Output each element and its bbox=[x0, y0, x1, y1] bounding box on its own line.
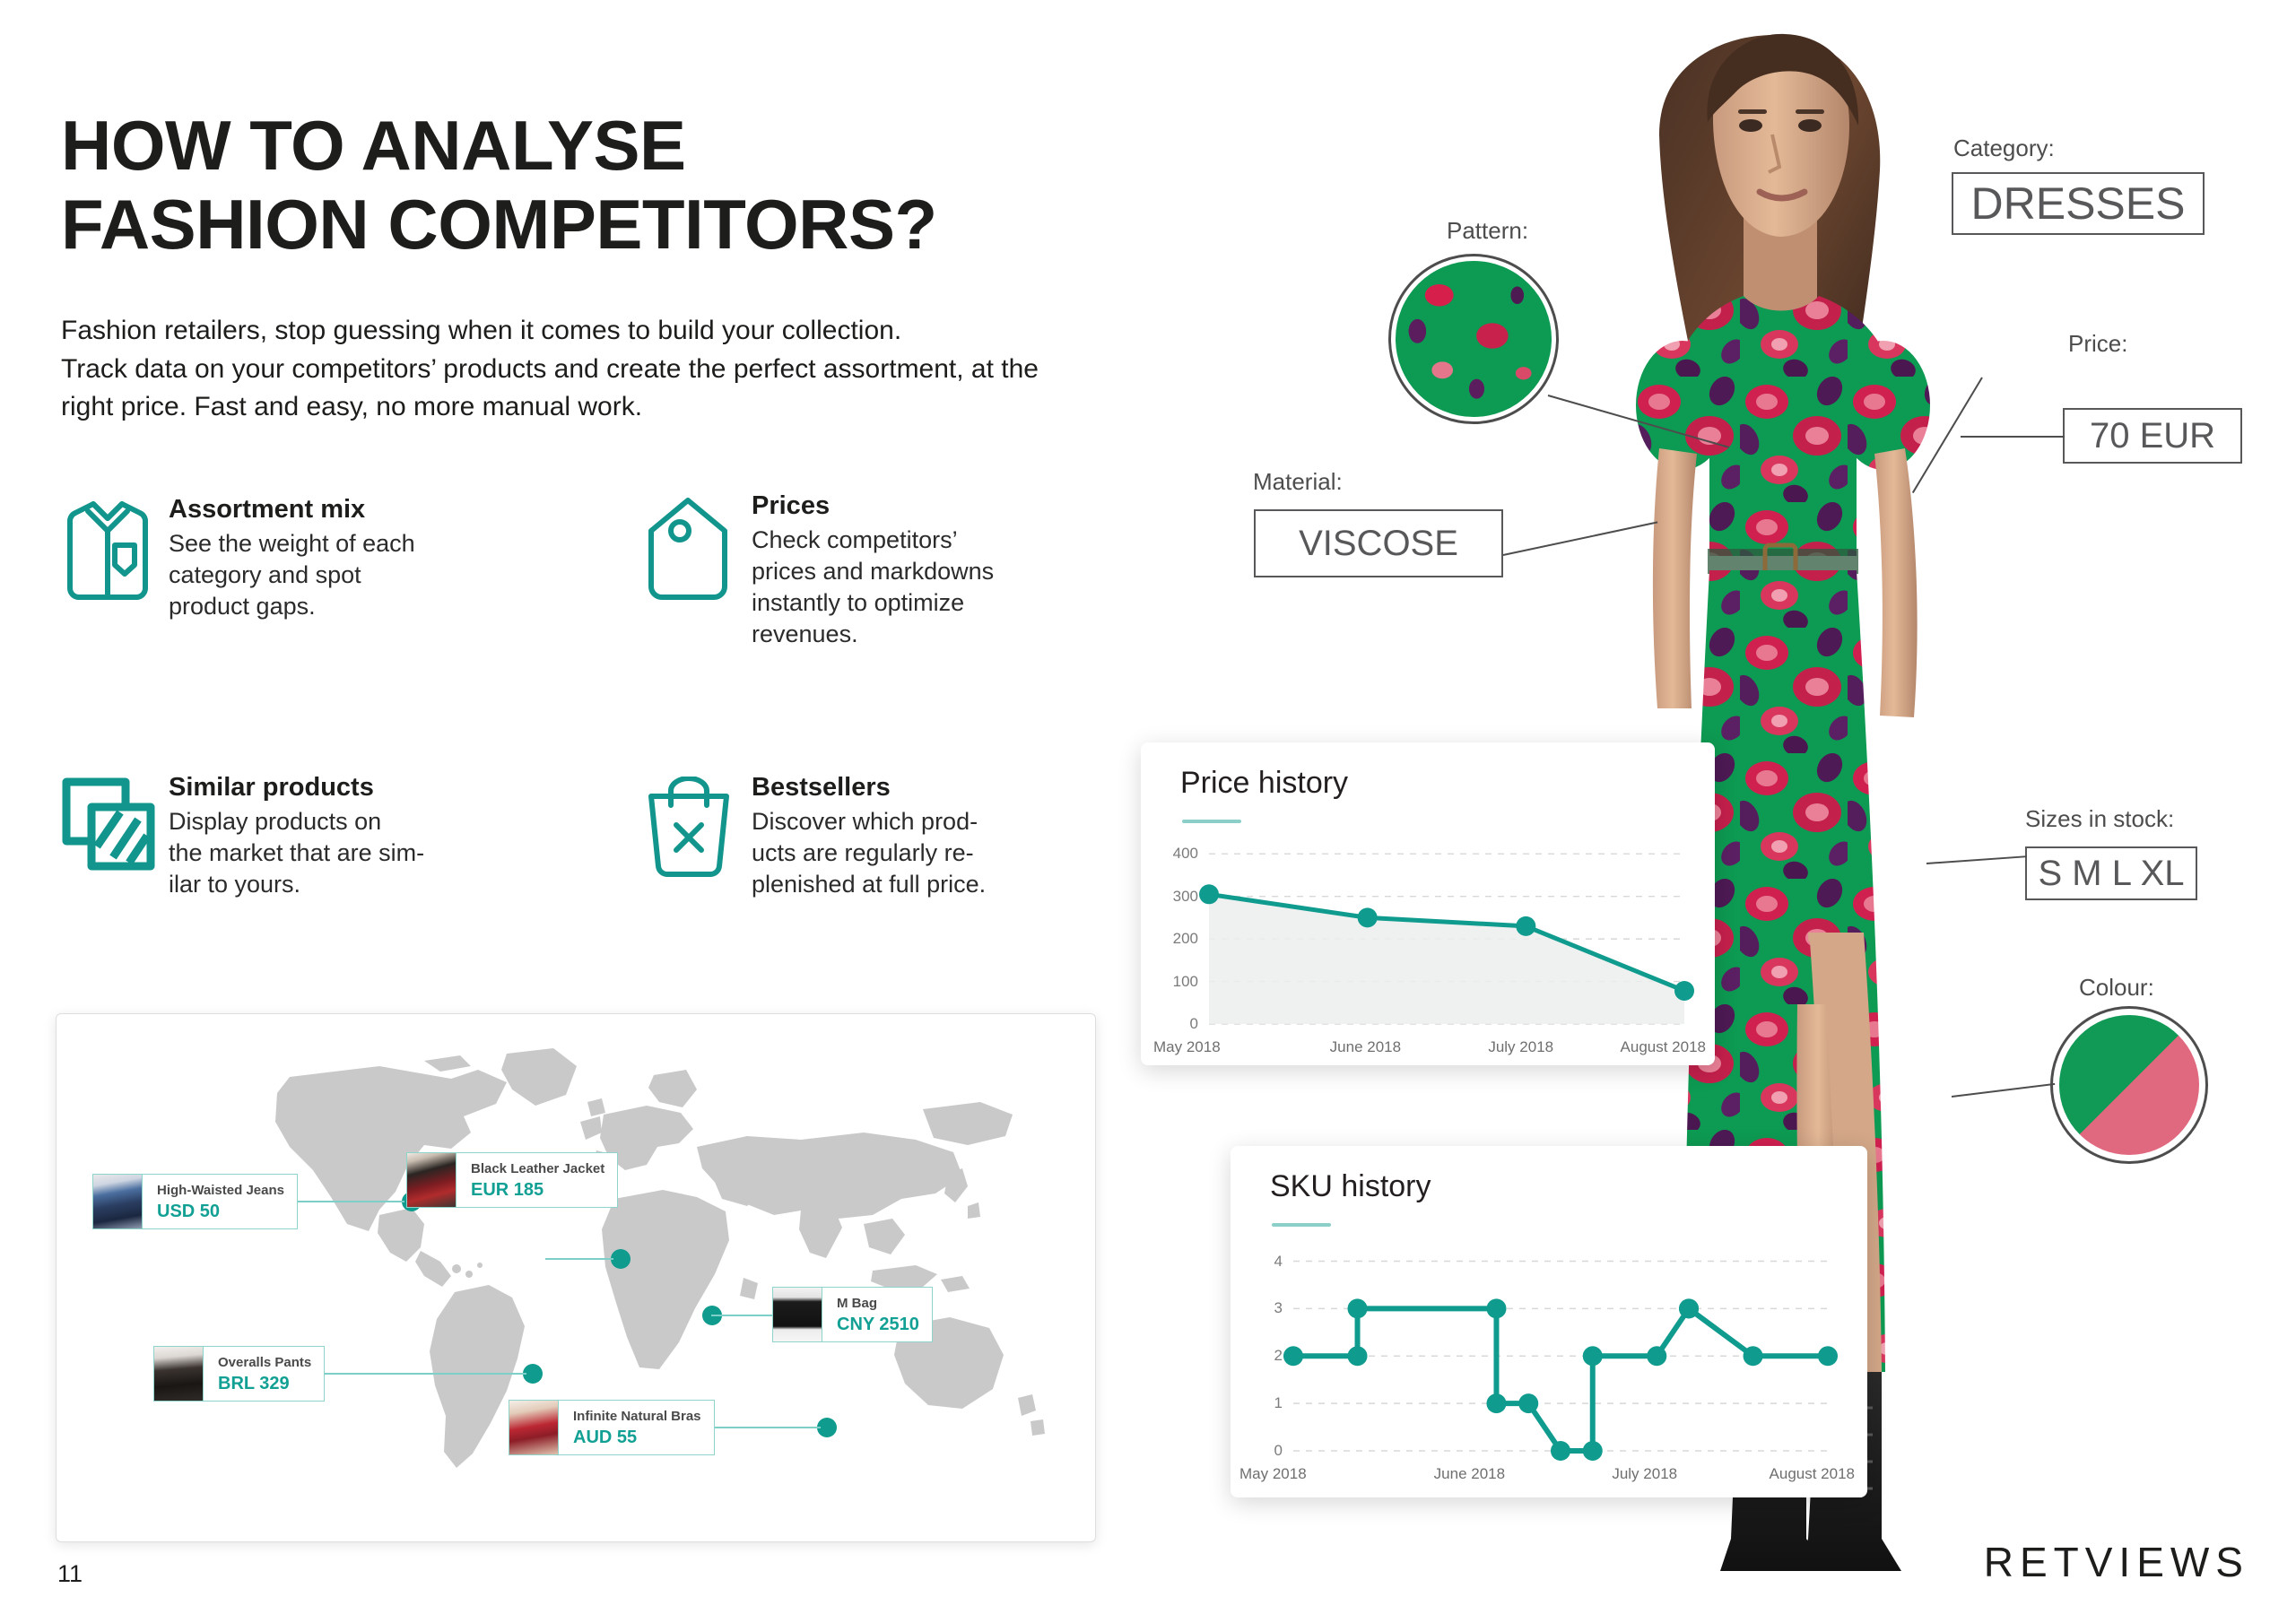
sizes-caption: Sizes in stock: bbox=[2025, 805, 2174, 833]
feature-title: Assortment mix bbox=[169, 495, 474, 525]
x-tick-label: May 2018 bbox=[1153, 1038, 1221, 1056]
map-connector bbox=[313, 1373, 526, 1375]
shirt-icon bbox=[61, 495, 169, 603]
product-name: Overalls Pants bbox=[218, 1355, 311, 1371]
feature-body-line: product gaps. bbox=[169, 591, 474, 622]
map-product-label[interactable]: High-Waisted Jeans USD 50 bbox=[92, 1174, 298, 1229]
slide-page: HOW TO ANALYSE FASHION COMPETITORS? Fash… bbox=[0, 0, 2296, 1623]
feature-body-line: plenished at full price. bbox=[752, 869, 1057, 900]
pattern-swatch bbox=[1388, 254, 1559, 424]
chart-accent-rule bbox=[1272, 1223, 1331, 1227]
material-value: VISCOSE bbox=[1254, 509, 1503, 577]
x-tick-label: June 2018 bbox=[1434, 1465, 1505, 1483]
feature-bestsellers: Bestsellers Discover which prod- ucts ar… bbox=[644, 773, 1057, 900]
product-price: CNY 2510 bbox=[837, 1314, 919, 1336]
price-caption: Price: bbox=[2068, 330, 2127, 358]
feature-body: Display products on the market that are … bbox=[169, 806, 474, 900]
x-tick-label: August 2018 bbox=[1770, 1465, 1855, 1483]
feature-prices: Prices Check competitors’ prices and mar… bbox=[644, 491, 1057, 650]
overalls-thumbnail bbox=[153, 1346, 204, 1402]
product-name: M Bag bbox=[837, 1296, 919, 1312]
map-product-label[interactable]: Overalls Pants BRL 329 bbox=[153, 1346, 325, 1402]
jeans-thumbnail bbox=[92, 1174, 143, 1229]
y-tick-label: 100 bbox=[1141, 973, 1198, 991]
feature-title: Bestsellers bbox=[752, 773, 1057, 803]
bra-thumbnail bbox=[509, 1400, 559, 1455]
x-tick-label: June 2018 bbox=[1330, 1038, 1401, 1056]
feature-assortment-mix: Assortment mix See the weight of each ca… bbox=[61, 495, 474, 622]
sku-history-svg bbox=[1231, 1232, 1867, 1497]
intro-paragraph: Fashion retailers, stop guessing when it… bbox=[61, 312, 1101, 427]
intro-line-3: right price. Fast and easy, no more manu… bbox=[61, 388, 1101, 427]
stacked-squares-icon bbox=[61, 773, 169, 873]
pattern-swatch-fill bbox=[1396, 261, 1552, 417]
category-value: DRESSES bbox=[1952, 172, 2205, 235]
page-number: 11 bbox=[57, 1560, 83, 1588]
colour-swatch-fill bbox=[2059, 1015, 2199, 1155]
y-tick-label: 200 bbox=[1141, 930, 1198, 948]
y-tick-label: 0 bbox=[1141, 1015, 1198, 1033]
price-history-svg bbox=[1141, 829, 1715, 1065]
bag-thumbnail bbox=[772, 1287, 822, 1342]
feature-body-line: Check competitors’ bbox=[752, 525, 1057, 556]
x-tick-label: May 2018 bbox=[1239, 1465, 1307, 1483]
world-map-card: High-Waisted Jeans USD 50 Overalls Pants… bbox=[56, 1013, 1096, 1542]
y-tick-label: 4 bbox=[1231, 1253, 1283, 1271]
headline-line-1: HOW TO ANALYSE bbox=[61, 106, 686, 185]
shopping-bag-icon bbox=[644, 773, 752, 877]
feature-body-line: prices and markdowns bbox=[752, 556, 1057, 587]
feature-title: Prices bbox=[752, 491, 1057, 521]
chart-title: Price history bbox=[1180, 766, 1348, 801]
feature-body-line: ilar to yours. bbox=[169, 869, 474, 900]
intro-line-1: Fashion retailers, stop guessing when it… bbox=[61, 312, 1101, 351]
price-history-card: Price history 4003002001000 May 2018June… bbox=[1141, 742, 1715, 1065]
jacket-thumbnail bbox=[406, 1152, 457, 1208]
feature-body-line: the market that are sim- bbox=[169, 838, 474, 869]
sku-history-card: SKU history 43210 May 2018June 2018July … bbox=[1231, 1146, 1867, 1497]
intro-line-2: Track data on your competitors’ products… bbox=[61, 351, 1101, 389]
chart-accent-rule bbox=[1182, 820, 1241, 823]
y-tick-label: 300 bbox=[1141, 888, 1198, 906]
price-history-plot: 4003002001000 May 2018June 2018July 2018… bbox=[1141, 829, 1715, 1065]
product-name: Infinite Natural Bras bbox=[573, 1409, 701, 1425]
map-connector bbox=[545, 1258, 613, 1260]
map-product-label[interactable]: M Bag CNY 2510 bbox=[772, 1287, 933, 1342]
feature-body-line: instantly to optimize bbox=[752, 587, 1057, 619]
map-connector bbox=[711, 1315, 774, 1316]
product-price: USD 50 bbox=[157, 1201, 284, 1223]
map-product-label[interactable]: Black Leather Jacket EUR 185 bbox=[406, 1152, 618, 1208]
product-price: BRL 329 bbox=[218, 1373, 311, 1395]
headline-line-2: FASHION COMPETITORS? bbox=[61, 185, 1065, 264]
map-connector bbox=[706, 1427, 821, 1428]
feature-body: See the weight of each category and spot… bbox=[169, 528, 474, 622]
product-price: EUR 185 bbox=[471, 1179, 604, 1202]
feature-body: Discover which prod- ucts are regularly … bbox=[752, 806, 1057, 900]
feature-body-line: See the weight of each bbox=[169, 528, 474, 560]
y-tick-label: 0 bbox=[1231, 1442, 1283, 1460]
page-title: HOW TO ANALYSE FASHION COMPETITORS? bbox=[61, 106, 1065, 264]
chart-title: SKU history bbox=[1270, 1169, 1431, 1204]
map-product-label[interactable]: Infinite Natural Bras AUD 55 bbox=[509, 1400, 715, 1455]
colour-caption: Colour: bbox=[2079, 974, 2154, 1002]
feature-body-line: ucts are regularly re- bbox=[752, 838, 1057, 869]
feature-body-line: Display products on bbox=[169, 806, 474, 838]
y-tick-label: 400 bbox=[1141, 845, 1198, 863]
feature-similar-products: Similar products Display products on the… bbox=[61, 773, 474, 900]
y-tick-label: 2 bbox=[1231, 1347, 1283, 1365]
map-pin-europe[interactable] bbox=[611, 1249, 631, 1269]
product-name: High-Waisted Jeans bbox=[157, 1183, 284, 1199]
product-name: Black Leather Jacket bbox=[471, 1161, 604, 1177]
x-tick-label: August 2018 bbox=[1621, 1038, 1706, 1056]
feature-body: Check competitors’ prices and markdowns … bbox=[752, 525, 1057, 650]
category-caption: Category: bbox=[1953, 135, 2055, 162]
feature-body-line: category and spot bbox=[169, 560, 474, 591]
sizes-value: S M L XL bbox=[2025, 846, 2197, 900]
feature-body-line: Discover which prod- bbox=[752, 806, 1057, 838]
price-tag-icon bbox=[644, 491, 752, 604]
feature-body-line: revenues. bbox=[752, 619, 1057, 650]
y-tick-label: 1 bbox=[1231, 1394, 1283, 1412]
pattern-caption: Pattern: bbox=[1447, 217, 1528, 245]
x-tick-label: July 2018 bbox=[1612, 1465, 1677, 1483]
material-caption: Material: bbox=[1253, 468, 1343, 496]
y-tick-label: 3 bbox=[1231, 1299, 1283, 1317]
feature-title: Similar products bbox=[169, 773, 474, 803]
colour-swatch bbox=[2050, 1006, 2208, 1164]
price-value: 70 EUR bbox=[2063, 408, 2242, 464]
sku-history-plot: 43210 May 2018June 2018July 2018August 2… bbox=[1231, 1232, 1867, 1497]
x-tick-label: July 2018 bbox=[1488, 1038, 1553, 1056]
price-leader-line bbox=[1961, 436, 2065, 438]
product-price: AUD 55 bbox=[573, 1427, 701, 1449]
